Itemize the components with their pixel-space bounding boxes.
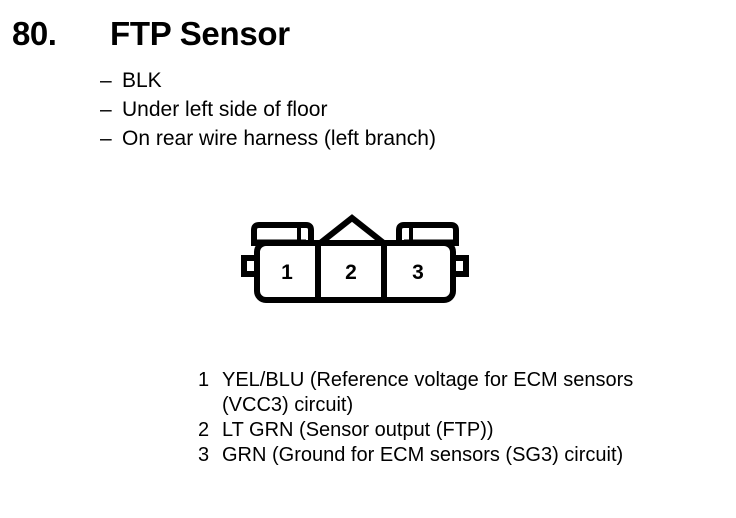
item-number: 80. bbox=[12, 14, 56, 54]
pin-description: LT GRN (Sensor output (FTP)) bbox=[222, 418, 728, 443]
description-item-label: Under left side of floor bbox=[122, 95, 327, 124]
description-item-label: BLK bbox=[122, 66, 162, 95]
description-item-harness: – On rear wire harness (left branch) bbox=[100, 124, 660, 153]
description-item-label: On rear wire harness (left branch) bbox=[122, 124, 436, 153]
cavity-number-1: 1 bbox=[281, 261, 293, 284]
pin-number: 3 bbox=[198, 443, 212, 468]
description-item-location: – Under left side of floor bbox=[100, 95, 660, 124]
description-list: – BLK – Under left side of floor – On re… bbox=[100, 66, 660, 153]
pin-row: 3 GRN (Ground for ECM sensors (SG3) circ… bbox=[198, 443, 728, 468]
dash-bullet-icon: – bbox=[100, 66, 112, 95]
pin-number: 2 bbox=[198, 418, 212, 443]
pin-number: 1 bbox=[198, 368, 212, 393]
pin-description: GRN (Ground for ECM sensors (SG3) circui… bbox=[222, 443, 728, 468]
page-title: 80. FTP Sensor bbox=[12, 14, 712, 56]
dash-bullet-icon: – bbox=[100, 95, 112, 124]
pin-row: 2 LT GRN (Sensor output (FTP)) bbox=[198, 418, 728, 443]
pin-assignment-list: 1 YEL/BLU (Reference voltage for ECM sen… bbox=[198, 368, 728, 468]
dash-bullet-icon: – bbox=[100, 124, 112, 153]
pin-description-continued: (VCC3) circuit) bbox=[222, 393, 728, 418]
component-name: FTP Sensor bbox=[110, 14, 290, 54]
connector-diagram: 1 2 3 bbox=[238, 210, 472, 310]
description-item-wire-color: – BLK bbox=[100, 66, 660, 95]
cavity-number-2: 2 bbox=[345, 261, 357, 284]
pin-row: 1 YEL/BLU (Reference voltage for ECM sen… bbox=[198, 368, 728, 418]
pin-description: YEL/BLU (Reference voltage for ECM senso… bbox=[222, 368, 728, 393]
cavity-number-3: 3 bbox=[412, 261, 424, 284]
